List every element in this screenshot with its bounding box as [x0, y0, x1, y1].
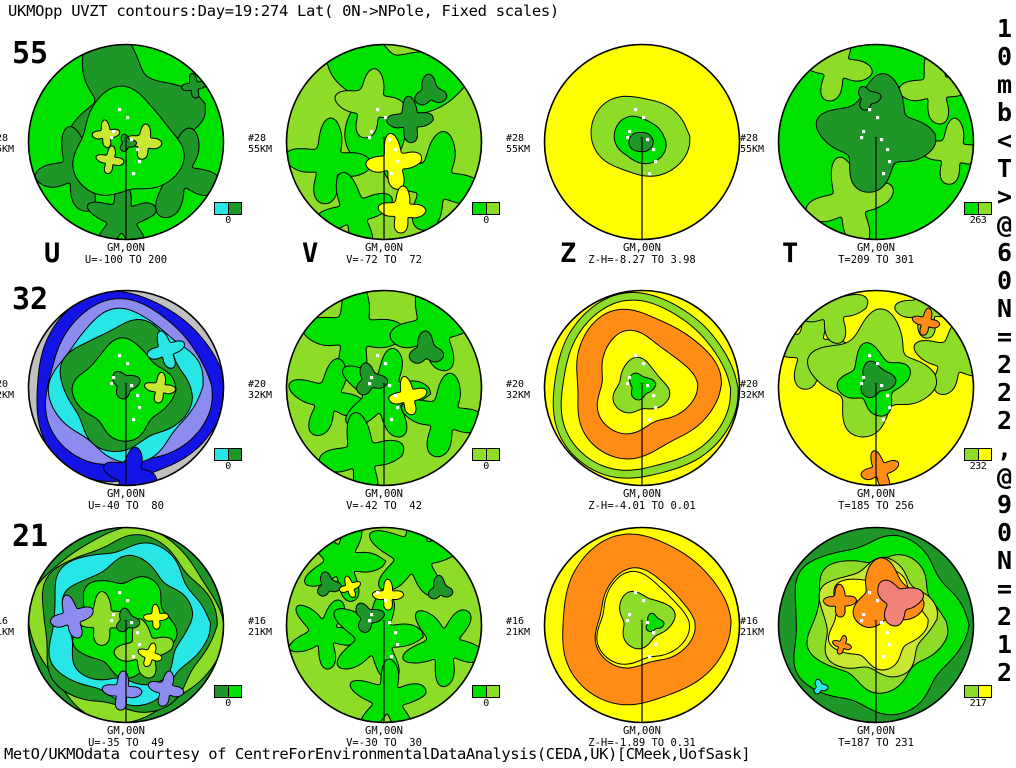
contour-map-z-55km: *: [542, 42, 742, 242]
legend-colors-t-21km: [964, 685, 992, 698]
legend-swatch-u-21km: 0: [214, 685, 242, 709]
meridian-label-u-21km: GM,00N: [26, 726, 226, 738]
contour-map-z-21km: *: [542, 525, 742, 725]
range-label-z-21km: Z-H=-1.89 TO 0.31: [542, 738, 742, 750]
panel-caption-v-32km: GM,00NV=-42 TO 42: [284, 489, 484, 512]
svg-text:*: *: [873, 382, 878, 392]
polar-panel-t-21km[interactable]: * #16 21KMGM,00NT=187 TO 231217: [776, 525, 976, 765]
meridian-label-z-21km: GM,00N: [542, 726, 742, 738]
legend-high-color: [979, 686, 992, 697]
legend-level-v-21km: 0: [472, 698, 500, 709]
contour-map-t-32km: *: [776, 288, 976, 488]
panel-caption-v-21km: GM,00NV=-30 TO 30: [284, 726, 484, 749]
polar-panel-z-55km[interactable]: * #28 55KMGM,00NZ-H=-8.27 TO 3.98: [542, 42, 742, 282]
legend-low-color: [215, 686, 229, 697]
level-label-t-32km: #20 32KM: [740, 380, 764, 401]
level-label-u-32km: #20 32KM: [0, 380, 14, 401]
svg-text:*: *: [381, 136, 386, 146]
panel-caption-z-55km: GM,00NZ-H=-8.27 TO 3.98: [542, 243, 742, 266]
legend-level-u-32km: 0: [214, 461, 242, 472]
legend-high-color: [229, 203, 242, 214]
legend-swatch-v-32km: 0: [472, 448, 500, 472]
legend-high-color: [487, 686, 500, 697]
legend-colors-u-32km: [214, 448, 242, 461]
legend-high-color: [979, 203, 992, 214]
range-label-t-21km: T=187 TO 231: [776, 738, 976, 750]
contour-map-u-32km: *: [26, 288, 226, 488]
range-label-v-32km: V=-42 TO 42: [284, 501, 484, 513]
legend-colors-v-21km: [472, 685, 500, 698]
svg-text:*: *: [381, 382, 386, 392]
panel-caption-u-21km: GM,00NU=-35 TO 49: [26, 726, 226, 749]
svg-text:*: *: [381, 619, 386, 629]
legend-low-color: [215, 203, 229, 214]
legend-swatch-u-32km: 0: [214, 448, 242, 472]
legend-colors-t-32km: [964, 448, 992, 461]
polar-panel-v-21km[interactable]: * #16 21KMGM,00NV=-30 TO 300: [284, 525, 484, 765]
range-label-u-55km: U=-100 TO 200: [26, 255, 226, 267]
polar-panel-z-32km[interactable]: * #20 32KMGM,00NZ-H=-4.01 TO 0.01: [542, 288, 742, 528]
side-annotation: 10mb<T>@60N=222,@90N=212: [983, 14, 1016, 686]
meridian-label-v-32km: GM,00N: [284, 489, 484, 501]
range-label-u-32km: U=-40 TO 80: [26, 501, 226, 513]
range-label-v-55km: V=-72 TO 72: [284, 255, 484, 267]
contour-map-t-21km: *: [776, 525, 976, 725]
page-title: UKMOpp UVZT contours:Day=19:274 Lat( 0N-…: [8, 2, 559, 20]
meridian-label-t-55km: GM,00N: [776, 243, 976, 255]
legend-colors-t-55km: [964, 202, 992, 215]
contour-map-v-55km: *: [284, 42, 484, 242]
panel-caption-u-32km: GM,00NU=-40 TO 80: [26, 489, 226, 512]
legend-low-color: [965, 449, 979, 460]
level-label-v-32km: #20 32KM: [248, 380, 272, 401]
legend-low-color: [473, 686, 487, 697]
legend-level-u-21km: 0: [214, 698, 242, 709]
level-label-z-55km: #28 55KM: [506, 134, 530, 155]
legend-high-color: [979, 449, 992, 460]
svg-text:*: *: [123, 136, 128, 146]
svg-text:*: *: [873, 619, 878, 629]
polar-panel-v-55km[interactable]: * #28 55KMGM,00NV=-72 TO 720: [284, 42, 484, 282]
contour-map-v-21km: *: [284, 525, 484, 725]
panel-caption-t-55km: GM,00NT=209 TO 301: [776, 243, 976, 266]
legend-swatch-t-21km: 217: [964, 685, 992, 709]
legend-swatch-t-55km: 263: [964, 202, 992, 226]
panel-caption-v-55km: GM,00NV=-72 TO 72: [284, 243, 484, 266]
panel-caption-z-32km: GM,00NZ-H=-4.01 TO 0.01: [542, 489, 742, 512]
meridian-label-z-32km: GM,00N: [542, 489, 742, 501]
legend-level-t-32km: 232: [964, 461, 992, 472]
contour-map-u-55km: *: [26, 42, 226, 242]
level-label-t-55km: #28 55KM: [740, 134, 764, 155]
legend-level-u-55km: 0: [214, 215, 242, 226]
legend-level-t-21km: 217: [964, 698, 992, 709]
level-label-z-21km: #16 21KM: [506, 617, 530, 638]
svg-text:*: *: [639, 136, 644, 146]
polar-panel-u-21km[interactable]: * #16 21KMGM,00NU=-35 TO 490: [26, 525, 226, 765]
range-label-u-21km: U=-35 TO 49: [26, 738, 226, 750]
range-label-t-55km: T=209 TO 301: [776, 255, 976, 267]
contour-map-v-32km: *: [284, 288, 484, 488]
svg-text:*: *: [639, 382, 644, 392]
svg-text:*: *: [123, 619, 128, 629]
legend-swatch-v-21km: 0: [472, 685, 500, 709]
legend-colors-u-21km: [214, 685, 242, 698]
legend-level-t-55km: 263: [964, 215, 992, 226]
polar-panel-z-21km[interactable]: * #16 21KMGM,00NZ-H=-1.89 TO 0.31: [542, 525, 742, 765]
level-label-u-21km: #16 21KM: [0, 617, 14, 638]
meridian-label-t-32km: GM,00N: [776, 489, 976, 501]
polar-panel-u-55km[interactable]: * #28 55KMGM,00NU=-100 TO 2000: [26, 42, 226, 282]
svg-text:*: *: [123, 382, 128, 392]
polar-panel-v-32km[interactable]: * #20 32KMGM,00NV=-42 TO 420: [284, 288, 484, 528]
level-label-v-55km: #28 55KM: [248, 134, 272, 155]
legend-colors-v-32km: [472, 448, 500, 461]
contour-map-u-21km: *: [26, 525, 226, 725]
legend-colors-u-55km: [214, 202, 242, 215]
level-label-v-21km: #16 21KM: [248, 617, 272, 638]
svg-text:*: *: [873, 136, 878, 146]
meridian-label-u-32km: GM,00N: [26, 489, 226, 501]
legend-colors-v-55km: [472, 202, 500, 215]
meridian-label-v-55km: GM,00N: [284, 243, 484, 255]
legend-high-color: [229, 449, 242, 460]
legend-low-color: [965, 203, 979, 214]
level-label-z-32km: #20 32KM: [506, 380, 530, 401]
panel-caption-u-55km: GM,00NU=-100 TO 200: [26, 243, 226, 266]
meridian-label-u-55km: GM,00N: [26, 243, 226, 255]
contour-map-t-55km: *: [776, 42, 976, 242]
range-label-v-21km: V=-30 TO 30: [284, 738, 484, 750]
legend-low-color: [473, 449, 487, 460]
legend-level-v-32km: 0: [472, 461, 500, 472]
legend-swatch-u-55km: 0: [214, 202, 242, 226]
meridian-label-v-21km: GM,00N: [284, 726, 484, 738]
panel-caption-t-21km: GM,00NT=187 TO 231: [776, 726, 976, 749]
legend-high-color: [229, 686, 242, 697]
polar-panel-t-32km[interactable]: * #20 32KMGM,00NT=185 TO 256232: [776, 288, 976, 528]
level-label-u-55km: #28 55KM: [0, 134, 14, 155]
range-label-z-55km: Z-H=-8.27 TO 3.98: [542, 255, 742, 267]
legend-low-color: [965, 686, 979, 697]
legend-high-color: [487, 449, 500, 460]
polar-panel-u-32km[interactable]: * #20 32KMGM,00NU=-40 TO 800: [26, 288, 226, 528]
level-label-t-21km: #16 21KM: [740, 617, 764, 638]
legend-swatch-t-32km: 232: [964, 448, 992, 472]
range-label-t-32km: T=185 TO 256: [776, 501, 976, 513]
legend-low-color: [215, 449, 229, 460]
legend-high-color: [487, 203, 500, 214]
meridian-label-t-21km: GM,00N: [776, 726, 976, 738]
legend-level-v-55km: 0: [472, 215, 500, 226]
contour-map-z-32km: *: [542, 288, 742, 488]
svg-text:*: *: [639, 619, 644, 629]
polar-panel-t-55km[interactable]: * #28 55KMGM,00NT=209 TO 301263: [776, 42, 976, 282]
panel-caption-t-32km: GM,00NT=185 TO 256: [776, 489, 976, 512]
legend-low-color: [473, 203, 487, 214]
meridian-label-z-55km: GM,00N: [542, 243, 742, 255]
panel-caption-z-21km: GM,00NZ-H=-1.89 TO 0.31: [542, 726, 742, 749]
range-label-z-32km: Z-H=-4.01 TO 0.01: [542, 501, 742, 513]
legend-swatch-v-55km: 0: [472, 202, 500, 226]
